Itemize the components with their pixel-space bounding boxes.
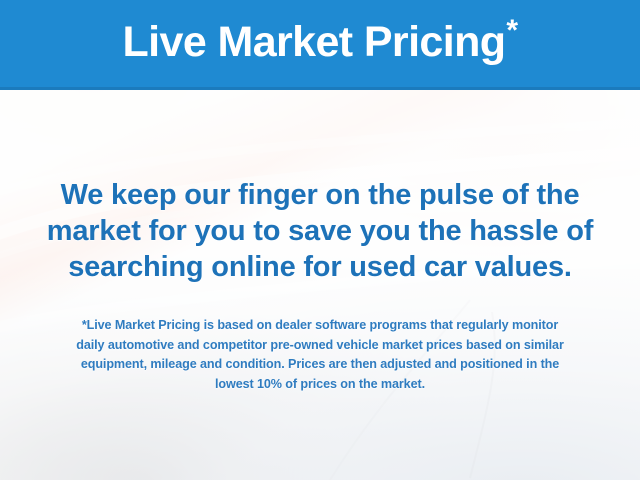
page-title-asterisk: * [506,14,517,47]
headline-line: market for you to save you the hassle of [26,213,614,249]
disclaimer-line: daily automotive and competitor pre-owne… [30,336,610,356]
disclaimer-line: *Live Market Pricing is based on dealer … [30,316,610,336]
header-banner: Live Market Pricing* [0,0,640,90]
page-title-text: Live Market Pricing [123,18,506,66]
headline-line: We keep our finger on the pulse of the [26,177,614,213]
headline-line: searching online for used car values. [26,249,614,285]
disclaimer-block: *Live Market Pricing is based on dealer … [30,316,610,394]
live-market-pricing-promo-card: Live Market Pricing* We keep our finger … [0,0,640,480]
disclaimer-line: lowest 10% of prices on the market. [30,375,610,395]
page-title: Live Market Pricing* [123,21,518,67]
headline-block: We keep our finger on the pulse of the m… [26,177,614,285]
disclaimer-line: equipment, mileage and condition. Prices… [30,355,610,375]
promo-content: We keep our finger on the pulse of the m… [0,93,640,480]
